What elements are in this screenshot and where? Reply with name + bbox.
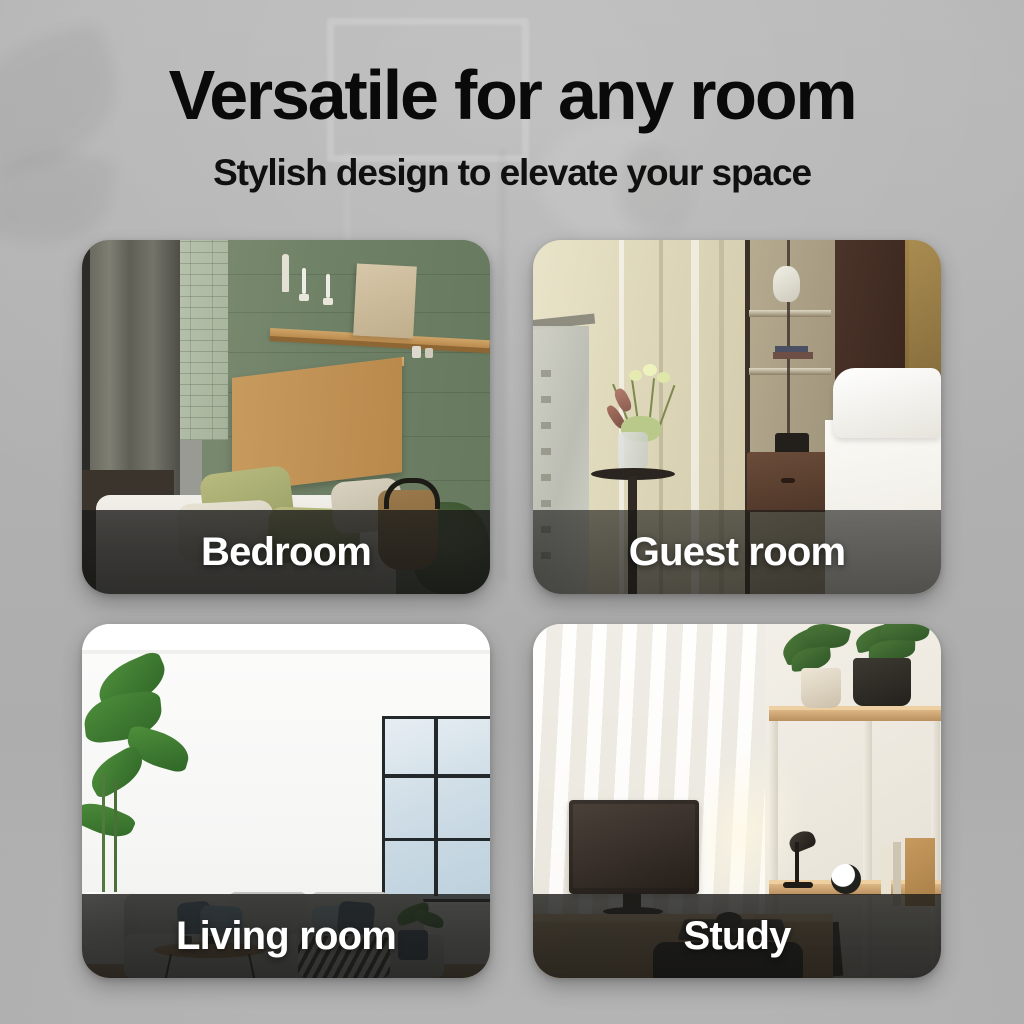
card-label-band: Study — [533, 894, 941, 978]
room-card-bedroom[interactable]: Bedroom — [82, 240, 490, 594]
room-card-living-room[interactable]: Living room — [82, 624, 490, 978]
card-label-guest-room: Guest room — [629, 530, 845, 575]
promo-banner: Versatile for any room Stylish design to… — [0, 0, 1024, 1024]
card-label-band: Bedroom — [82, 510, 490, 594]
card-label-living-room: Living room — [176, 914, 396, 959]
room-card-study[interactable]: Study — [533, 624, 941, 978]
page-title: Versatile for any room — [0, 60, 1024, 130]
card-label-band: Guest room — [533, 510, 941, 594]
page-subtitle: Stylish design to elevate your space — [0, 152, 1024, 195]
room-card-grid: Bedroom — [82, 240, 942, 978]
room-card-guest-room[interactable]: Guest room — [533, 240, 941, 594]
card-label-band: Living room — [82, 894, 490, 978]
card-label-study: Study — [683, 914, 790, 959]
card-label-bedroom: Bedroom — [201, 530, 371, 575]
